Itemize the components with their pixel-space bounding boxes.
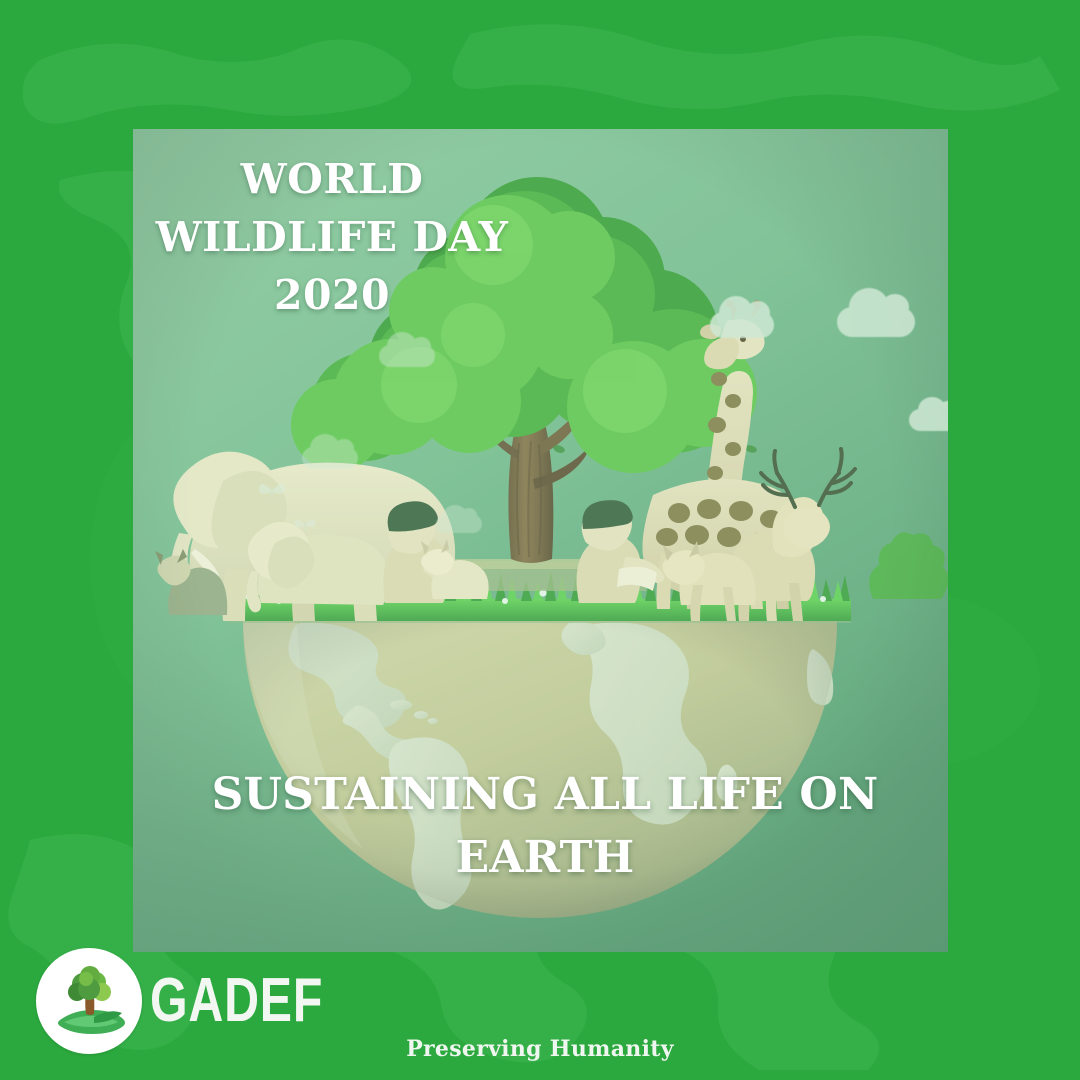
brand-tagline: Preserving Humanity bbox=[0, 1036, 1080, 1062]
cloud-icon bbox=[302, 447, 358, 469]
poster-headline: WORLD WILDLIFE DAY 2020 bbox=[152, 150, 512, 324]
poster-tagline: SUSTAINING ALL LIFE ON EARTH bbox=[180, 763, 910, 889]
footer-bar: GADEF Preserving Humanity bbox=[0, 952, 1080, 1080]
cloud-icon bbox=[436, 515, 482, 533]
cloud-icon bbox=[909, 409, 948, 431]
headline-line-3: 2020 bbox=[152, 266, 512, 324]
butterfly-icon bbox=[257, 479, 287, 508]
headline-line-1: WORLD bbox=[241, 155, 424, 203]
headline-line-2: WILDLIFE DAY bbox=[156, 213, 509, 261]
cloud-icon bbox=[379, 345, 435, 367]
brand-name: GADEF bbox=[150, 970, 323, 1032]
butterfly-icon bbox=[293, 515, 317, 540]
cloud-icon bbox=[837, 307, 915, 337]
tagline-line-2: EARTH bbox=[456, 832, 635, 883]
tagline-line-1: SUSTAINING ALL LIFE ON bbox=[212, 769, 879, 820]
poster-canvas: WORLD WILDLIFE DAY 2020 SUSTAINING ALL L… bbox=[0, 0, 1080, 1080]
cloud-icon bbox=[710, 312, 774, 338]
